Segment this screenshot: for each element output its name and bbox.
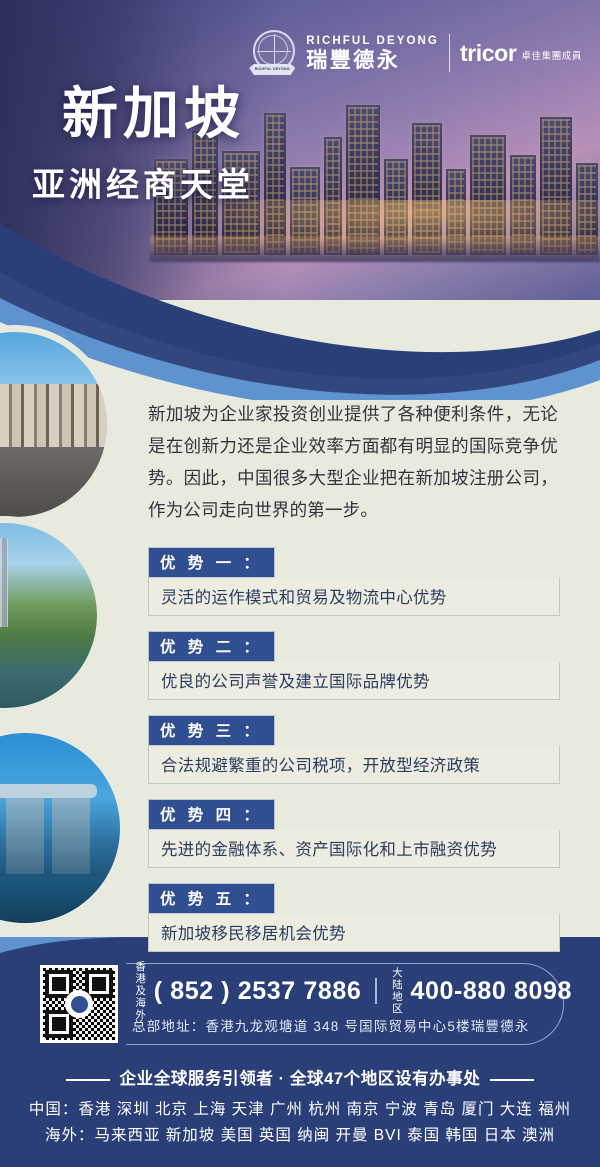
footer-slogan: 企业全球服务引领者 · 全球47个地区设有办事处: [0, 1065, 600, 1089]
slogan-text: 企业全球服务引领者 · 全球47个地区设有办事处: [120, 1070, 481, 1088]
brand-name-en: RICHFUL DEYONG: [306, 35, 439, 48]
regions-international: 海外：马来西亚 新加坡 美国 英国 纳闽 开曼 BVI 泰国 韩国 日本 澳洲: [0, 1123, 600, 1149]
office-regions: 中国：香港 深圳 北京 上海 天津 广州 杭州 南京 宁波 青岛 厦门 大连 福…: [0, 1097, 600, 1149]
advantage-item-2: 优 势 二 ： 优良的公司声誉及建立国际品牌优势: [148, 631, 560, 700]
advantage-text-1: 灵活的运作模式和贸易及物流中心优势: [148, 578, 560, 616]
page-subtitle: 亚洲经商天堂: [32, 165, 254, 205]
brand-logo: RICHFUL DEYONG RICHFUL DEYONG 瑞豐德永 trico…: [247, 28, 582, 78]
advantage-label-4: 优 势 四 ：: [148, 799, 275, 830]
partner-subtitle: 卓佳集團成員: [521, 48, 582, 62]
logo-divider: [449, 34, 450, 72]
advantage-text-4: 先进的金融体系、资产国际化和上市融资优势: [148, 830, 560, 868]
slogan-rule-left: [66, 1079, 110, 1081]
advantage-label-5: 优 势 五 ：: [148, 883, 275, 914]
intro-paragraph: 新加坡为企业家投资创业提供了各种便利条件，无论是在创新力还是企业效率方面都有明显…: [148, 398, 558, 526]
page-title: 新加坡: [62, 83, 245, 145]
partner-name: tricor: [460, 41, 516, 65]
advantage-item-5: 优 势 五 ： 新加坡移民移居机会优势: [148, 883, 560, 952]
advantage-text-5: 新加坡移民移居机会优势: [148, 914, 560, 952]
slogan-rule-right: [490, 1079, 534, 1081]
main-content: 新加坡为企业家投资创业提供了各种便利条件，无论是在创新力还是企业效率方面都有明显…: [0, 300, 600, 1000]
brand-name-cn: 瑞豐德永: [306, 49, 439, 72]
emblem-motto: RICHFUL DEYONG: [249, 64, 295, 75]
advantages-list: 优 势 一 ： 灵活的运作模式和贸易及物流中心优势 优 势 二 ： 优良的公司声…: [148, 547, 560, 967]
richful-deyong-emblem-icon: RICHFUL DEYONG: [247, 29, 297, 77]
advantage-item-3: 优 势 三 ： 合法规避繁重的公司税项，开放型经济政策: [148, 715, 560, 784]
advantage-item-4: 优 势 四 ： 先进的金融体系、资产国际化和上市融资优势: [148, 799, 560, 868]
advantage-text-3: 合法规避繁重的公司税项，开放型经济政策: [148, 746, 560, 784]
advantage-label-1: 优 势 一 ：: [148, 547, 275, 578]
advantage-label-3: 优 势 三 ：: [148, 715, 275, 746]
headquarters-address: 总部地址：香港九龙观塘道 348 号国际贸易中心5楼瑞豐德永: [132, 1015, 572, 1035]
poster-root: RICHFUL DEYONG RICHFUL DEYONG 瑞豐德永 trico…: [0, 0, 600, 1167]
regions-china: 中国：香港 深圳 北京 上海 天津 广州 杭州 南京 宁波 青岛 厦门 大连 福…: [0, 1097, 600, 1123]
advantage-text-2: 优良的公司声誉及建立国际品牌优势: [148, 662, 560, 700]
advantage-label-2: 优 势 二 ：: [148, 631, 275, 662]
advantage-item-1: 优 势 一 ： 灵活的运作模式和贸易及物流中心优势: [148, 547, 560, 616]
